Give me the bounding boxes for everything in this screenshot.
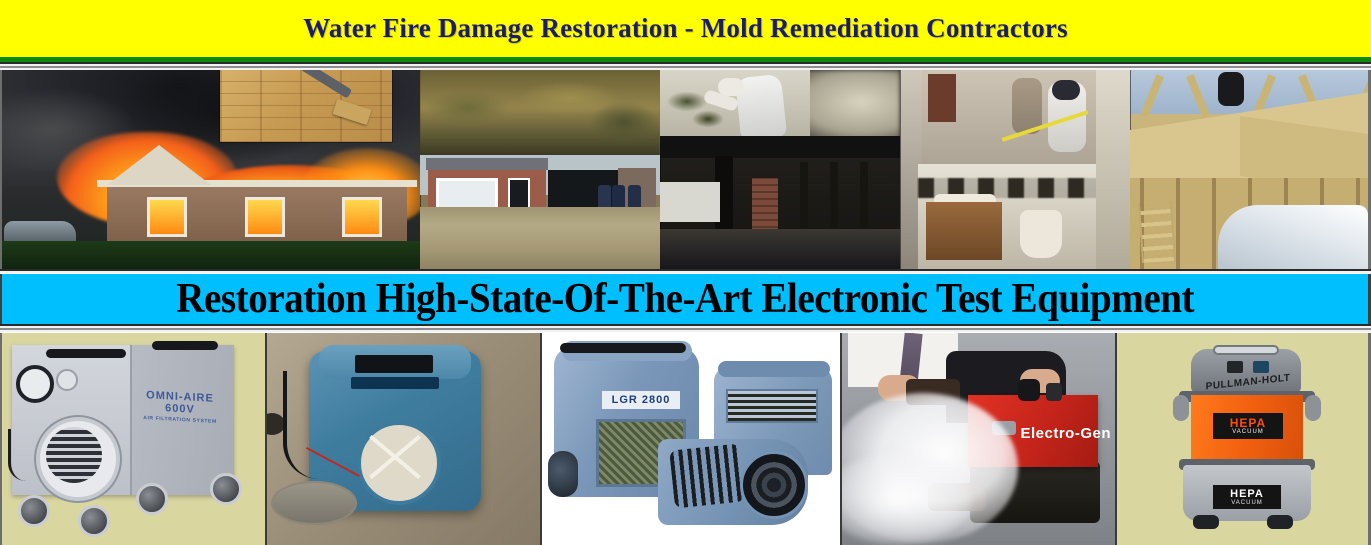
pressure-gauge-icon — [16, 365, 54, 403]
brand-plate — [351, 377, 439, 389]
trowel-blade-icon — [332, 99, 371, 125]
dehumidifier-and-air-mover: LGR 2800 — [542, 333, 842, 545]
restoration-equipment-photos: OMNI-AIRE 600V AIR FILTRATION SYSTEM — [0, 333, 1371, 545]
burning-window — [342, 197, 382, 237]
indicator-switch — [1253, 361, 1269, 373]
home-roof — [426, 158, 548, 170]
equipment-headline-banner: Restoration High-State-Of-The-Art Electr… — [0, 274, 1371, 324]
divider-white-mid — [0, 271, 1371, 273]
control-panel — [355, 355, 433, 373]
toilet — [1020, 210, 1062, 258]
power-switch — [1227, 361, 1243, 373]
damage-photo-collage — [0, 70, 1371, 269]
caster-wheel — [136, 483, 168, 515]
transport-wheel — [548, 451, 578, 497]
charred-beam — [660, 136, 900, 158]
ladder — [1138, 201, 1176, 263]
hepa-badge-subtitle: VACUUM — [1231, 500, 1263, 506]
doorway — [928, 74, 956, 122]
mold-remediation-crew-photo — [900, 70, 1130, 269]
fogger-brand-label: Electro-Gen — [1020, 425, 1111, 442]
air-vent-grille — [726, 389, 818, 423]
roof-truss — [1186, 74, 1210, 118]
hepa-badge-bottom: HEPA VACUUM — [1213, 485, 1281, 509]
flooded-house-photo — [420, 70, 660, 269]
carry-handle — [152, 341, 218, 350]
second-dehumidifier-top — [718, 361, 830, 377]
equipment-headline: Restoration High-State-Of-The-Art Electr… — [176, 275, 1194, 323]
fire-debris — [660, 229, 900, 269]
blue-air-scrubber — [267, 333, 542, 545]
floodwater — [420, 207, 660, 269]
metal-floor-plate — [271, 481, 357, 525]
burning-window — [147, 197, 187, 237]
power-cord — [8, 429, 33, 481]
trowel-handle-icon — [298, 70, 352, 99]
hepa-badge-title: HEPA — [1230, 417, 1266, 429]
carry-handle — [46, 349, 126, 358]
reconstruction-framing-photo — [1130, 70, 1368, 269]
air-filtration-unit: OMNI-AIRE 600V AIR FILTRATION SYSTEM — [2, 333, 267, 545]
respirator-hood — [1052, 80, 1080, 100]
caster-wheel — [18, 495, 50, 527]
power-cord — [283, 371, 321, 479]
caster-wheel — [78, 505, 110, 537]
roof-truss — [1140, 74, 1164, 118]
house-gable — [107, 145, 211, 185]
white-vehicle — [1218, 205, 1368, 269]
product-name: OMNI-AIRE 600V — [146, 389, 214, 416]
drum-latch — [1305, 395, 1321, 421]
hepa-badge-title: HEPA — [1230, 489, 1264, 500]
bathroom-vanity — [926, 202, 1002, 260]
side-wall — [1096, 70, 1130, 269]
vacuum-foot — [1193, 515, 1219, 529]
open-doorway — [660, 182, 720, 222]
hepa-vacuum: PULLMAN-HOLT HEPA VACUUM HEPA VACUUM — [1117, 333, 1368, 545]
product-model-label: LGR 2800 — [602, 391, 680, 409]
house-fire-photo — [2, 70, 420, 269]
air-mover-cord-wrap — [669, 444, 745, 509]
roofing-worker — [1218, 72, 1244, 106]
fogger-handle — [1018, 379, 1040, 401]
page-root: Water Fire Damage Restoration - Mold Rem… — [0, 0, 1371, 545]
fogger-knob — [1046, 383, 1062, 401]
brick-wall-inset-photo — [220, 70, 392, 142]
coiled-hose — [560, 343, 686, 353]
caster-wheel — [210, 473, 242, 505]
vacuum-handle — [1213, 345, 1279, 355]
thermal-fogger: Electro-Gen — [842, 333, 1117, 545]
drum-latch — [1173, 395, 1189, 421]
divider-white-low-2 — [0, 330, 1371, 332]
intake-grille — [46, 427, 102, 483]
air-mover-fan-icon — [740, 451, 808, 519]
vacuum-foot — [1267, 515, 1293, 529]
page-title: Water Fire Damage Restoration - Mold Rem… — [303, 13, 1068, 44]
front-lawn — [2, 241, 420, 269]
hepa-badge-top: HEPA VACUUM — [1213, 413, 1283, 439]
burning-window — [245, 197, 285, 237]
top-headline-banner: Water Fire Damage Restoration - Mold Rem… — [0, 0, 1371, 57]
product-brand-label: OMNI-AIRE 600V AIR FILTRATION SYSTEM — [130, 388, 230, 425]
water-damaged-ceiling-photo — [420, 70, 660, 165]
control-knob — [56, 369, 78, 391]
fire-damaged-interior-photo — [660, 70, 900, 269]
hepa-badge-subtitle: VACUUM — [1232, 429, 1264, 435]
